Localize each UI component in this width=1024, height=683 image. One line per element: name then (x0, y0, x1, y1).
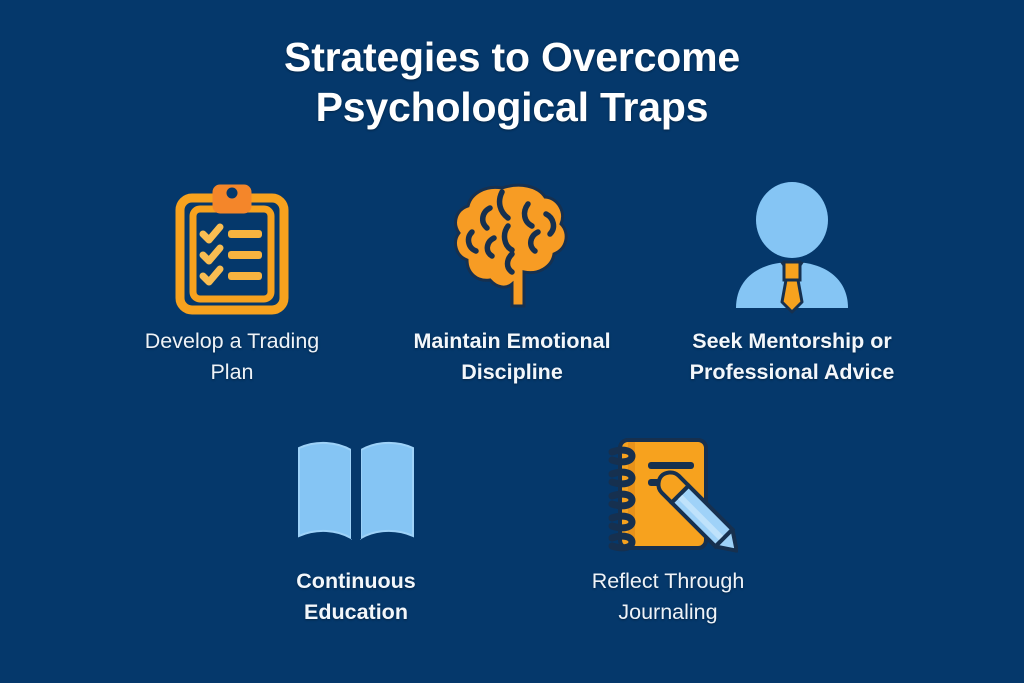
strategy-label-journaling: Reflect Through Journaling (561, 566, 775, 629)
notebook-pencil-icon (598, 432, 738, 556)
strategy-row-bottom: Continuous Education (0, 432, 1024, 629)
clipboard-checklist-icon (162, 176, 302, 316)
open-book-icon (291, 432, 421, 556)
strategy-row-top: Develop a Trading Plan (0, 176, 1024, 389)
strategy-label-trading-plan: Develop a Trading Plan (125, 326, 339, 389)
strategy-card-mentorship[interactable]: Seek Mentorship or Professional Advice (676, 176, 908, 389)
strategy-label-continuous-education: Continuous Education (249, 566, 463, 629)
strategy-card-trading-plan[interactable]: Develop a Trading Plan (116, 176, 348, 389)
strategy-label-mentorship: Seek Mentorship or Professional Advice (685, 326, 899, 389)
person-with-tie-icon (722, 176, 862, 316)
page-title: Strategies to Overcome Psychological Tra… (0, 32, 1024, 132)
strategy-card-continuous-education[interactable]: Continuous Education (240, 432, 472, 629)
infographic-canvas: Strategies to Overcome Psychological Tra… (0, 0, 1024, 683)
strategy-label-emotional-discipline: Maintain Emotional Discipline (405, 326, 619, 389)
label-part-plain: Maintain (413, 329, 506, 353)
brain-icon (442, 176, 582, 316)
title-line-1: Strategies to Overcome (0, 32, 1024, 82)
strategy-card-emotional-discipline[interactable]: Maintain Emotional Discipline (396, 176, 628, 389)
title-line-2: Psychological Traps (0, 82, 1024, 132)
strategy-card-journaling[interactable]: Reflect Through Journaling (552, 432, 784, 629)
